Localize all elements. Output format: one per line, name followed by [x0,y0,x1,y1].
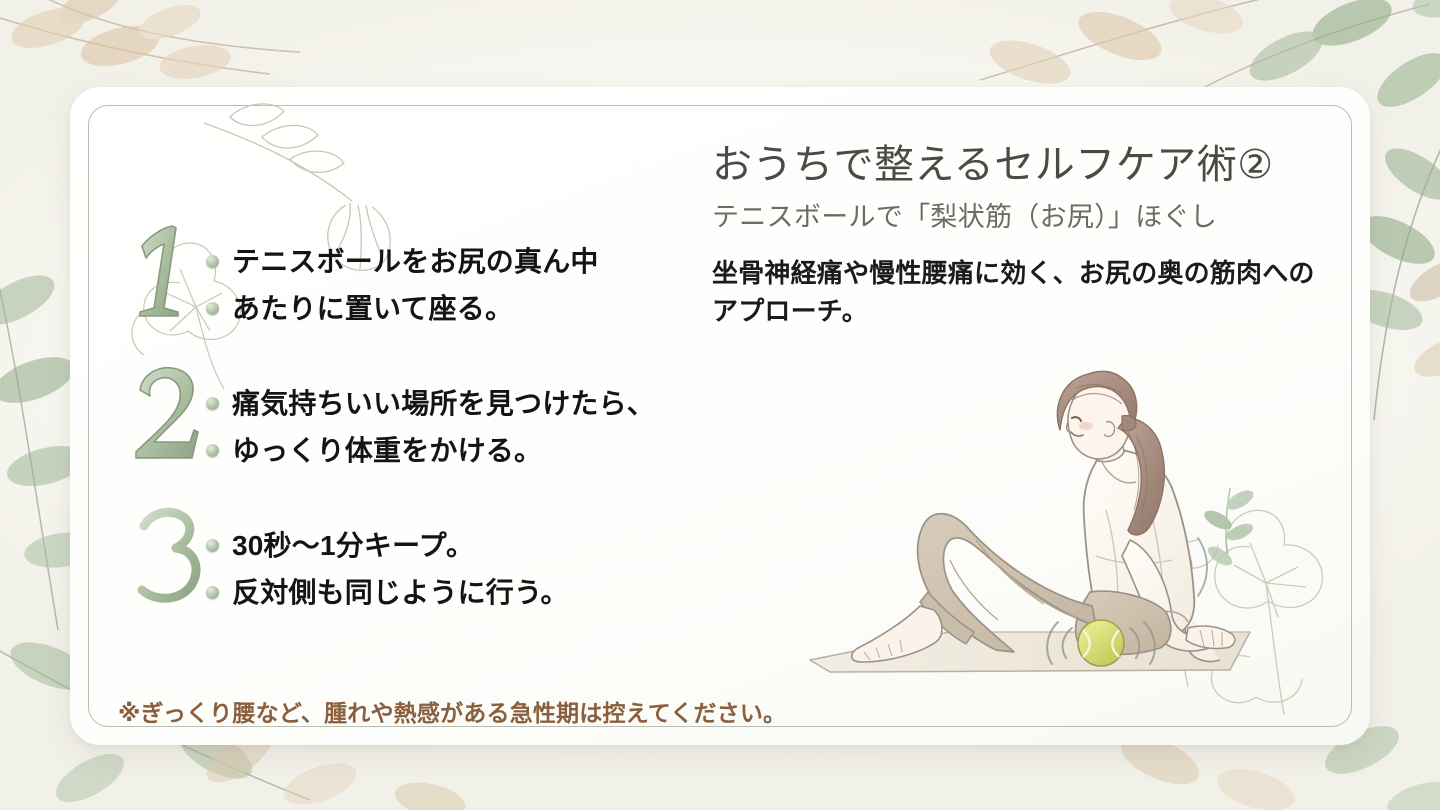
step-text-block-2: 痛気持ちいい場所を見つけたら、 ゆっくり体重をかける。 [206,374,655,474]
bullet-dot-icon [206,255,219,268]
list-item: テニスボールをお尻の真ん中 あたりに置いて座る。 [128,232,708,332]
step-line: ゆっくり体重をかける。 [206,427,655,474]
bullet-dot-icon [206,444,219,457]
content-card: おうちで整えるセルフケア術② テニスボールで「梨状筋（お尻）」ほぐし 坐骨神経痛… [70,87,1370,745]
steps-list: テニスボールをお尻の真ん中 あたりに置いて座る。 [128,232,708,616]
header-block: おうちで整えるセルフケア術② テニスボールで「梨状筋（お尻）」ほぐし 坐骨神経痛… [712,142,1337,331]
step-text-block-3: 30秒〜1分キープ。 反対側も同じように行う。 [206,516,569,616]
list-item: 痛気持ちいい場所を見つけたら、 ゆっくり体重をかける。 [128,374,708,474]
step-number-1 [128,220,206,324]
step-number-3 [128,504,206,608]
bullet-dot-icon [206,397,219,410]
step-line-text: 30秒〜1分キープ。 [232,532,474,560]
caution-footnote: ※ぎっくり腰など、腫れや熱感がある急性期は控えてください。 [118,694,786,728]
step-line: 30秒〜1分キープ。 [206,522,569,569]
exercise-illustration [800,360,1270,700]
page-title: おうちで整えるセルフケア術② [712,142,1337,189]
step-line: あたりに置いて座る。 [206,285,599,332]
page-subtitle: テニスボールで「梨状筋（お尻）」ほぐし [712,201,1337,233]
slide-canvas: おうちで整えるセルフケア術② テニスボールで「梨状筋（お尻）」ほぐし 坐骨神経痛… [0,0,1440,810]
step-line-text: あたりに置いて座る。 [232,295,513,323]
bullet-dot-icon [206,539,219,552]
step-line: 痛気持ちいい場所を見つけたら、 [206,380,655,427]
bullet-dot-icon [206,586,219,599]
step-line: テニスボールをお尻の真ん中 [206,238,599,285]
step-line-text: テニスボールをお尻の真ん中 [232,248,599,276]
step-text-block-1: テニスボールをお尻の真ん中 あたりに置いて座る。 [206,232,599,332]
list-item: 30秒〜1分キープ。 反対側も同じように行う。 [128,516,708,616]
step-number-2 [128,362,206,466]
page-description: 坐骨神経痛や慢性腰痛に効く、お尻の奥の筋肉へのアプローチ。 [712,254,1324,331]
step-line-text: 痛気持ちいい場所を見つけたら、 [232,390,655,418]
step-line: 反対側も同じように行う。 [206,569,569,616]
step-line-text: ゆっくり体重をかける。 [232,437,542,465]
bullet-dot-icon [206,302,219,315]
step-line-text: 反対側も同じように行う。 [232,579,569,607]
